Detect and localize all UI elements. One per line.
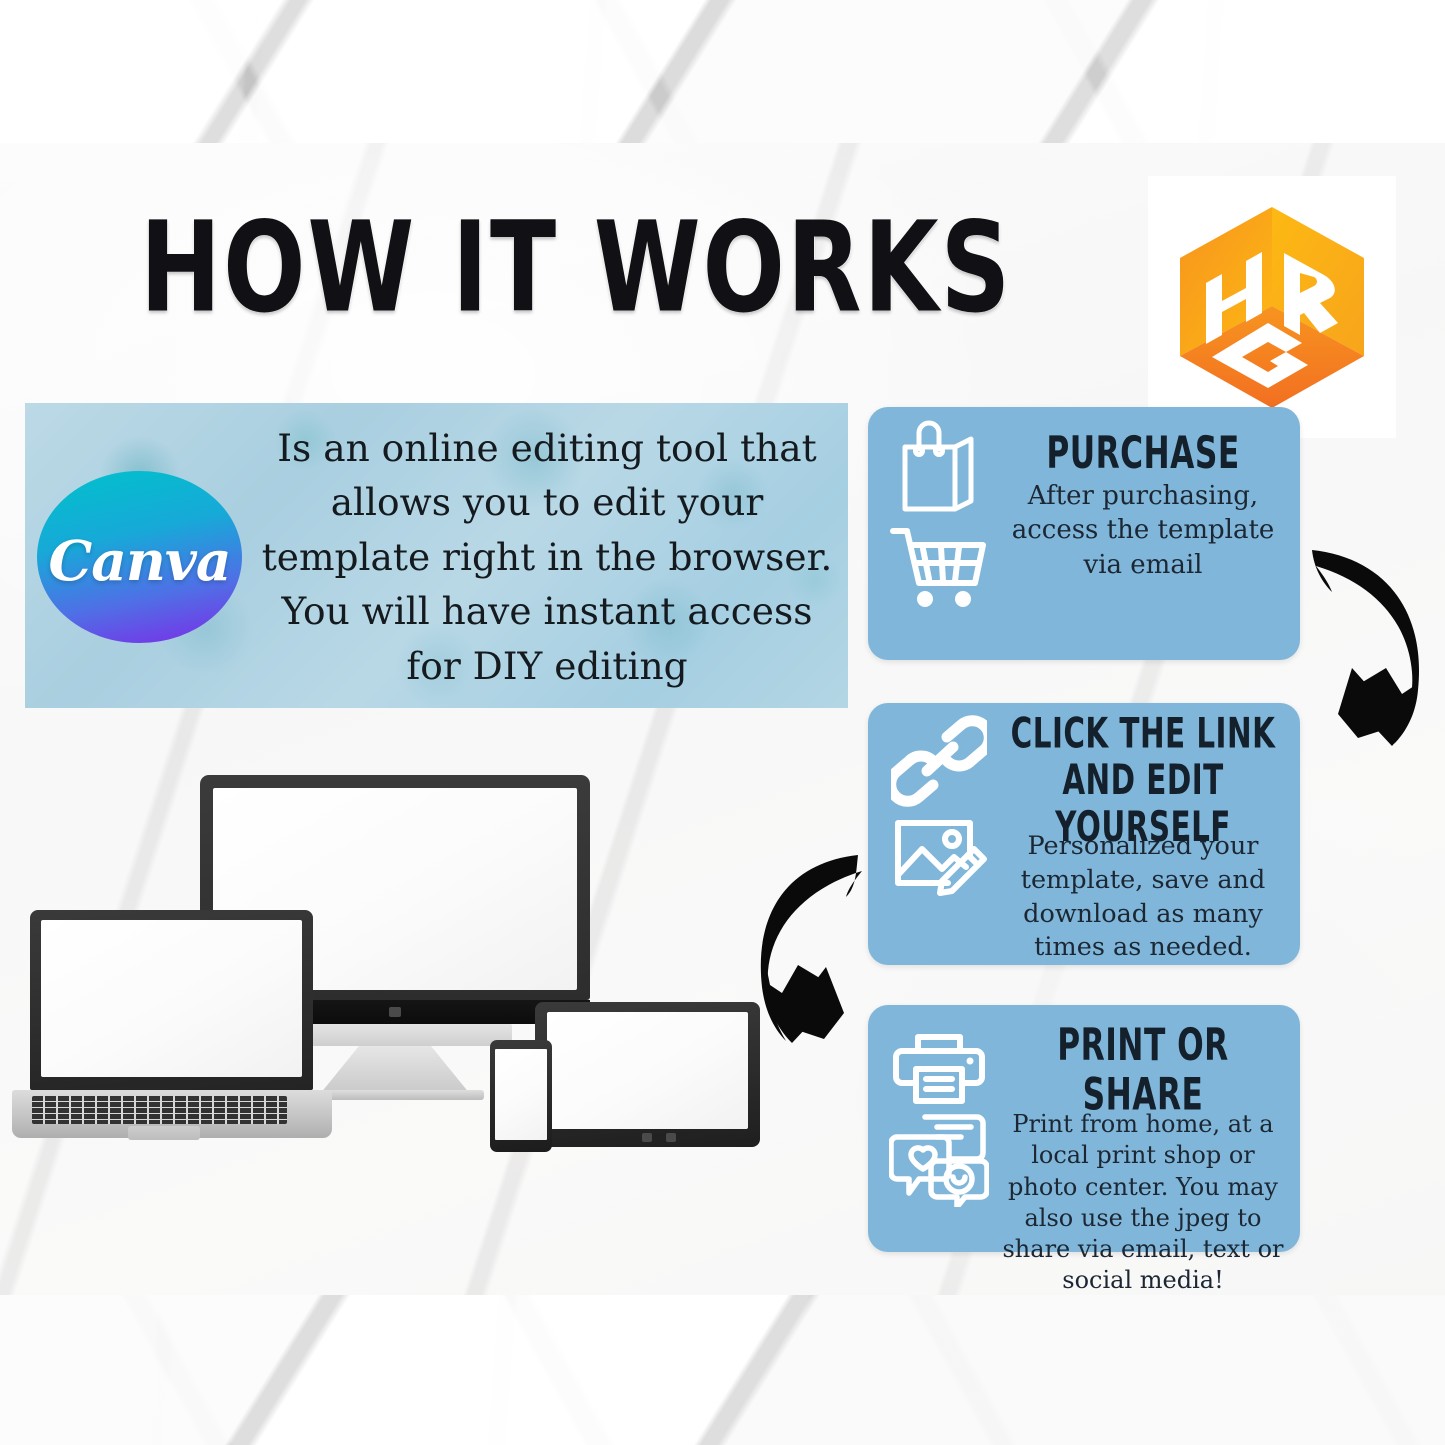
print-text: Print from home, at a local print shop o… bbox=[998, 1109, 1288, 1296]
shopping-cart-icon bbox=[889, 521, 989, 611]
monitor-foot bbox=[308, 1090, 484, 1100]
tablet-device bbox=[535, 1002, 760, 1147]
printer-icon bbox=[892, 1017, 986, 1109]
purchase-text: After purchasing, access the template vi… bbox=[998, 479, 1288, 582]
tablet-button-left bbox=[642, 1133, 652, 1142]
step-card-edit[interactable]: CLICK THE LINK AND EDIT YOURSELF Persona… bbox=[868, 703, 1300, 965]
edit-body: CLICK THE LINK AND EDIT YOURSELF Persona… bbox=[998, 711, 1288, 965]
canva-info-panel: Canva Is an online editing tool that all… bbox=[25, 403, 848, 708]
canva-wordmark: Canva bbox=[49, 528, 231, 593]
print-title: PRINT OR SHARE bbox=[1010, 1021, 1277, 1120]
phone-screen bbox=[495, 1049, 547, 1140]
print-body: PRINT OR SHARE Print from home, at a loc… bbox=[998, 1021, 1288, 1296]
edit-icon-group bbox=[880, 715, 998, 901]
canva-logo-icon: Canva bbox=[37, 471, 242, 643]
monitor-logo-mark bbox=[389, 1007, 401, 1017]
laptop-device bbox=[30, 910, 313, 1090]
page-background: HOW IT WORKS bbox=[0, 0, 1445, 1445]
hrg-cube-icon bbox=[1172, 201, 1372, 413]
laptop-trackpad bbox=[128, 1126, 200, 1140]
monitor-stand bbox=[320, 1046, 470, 1094]
shopping-bag-icon bbox=[893, 419, 985, 519]
phone-device bbox=[490, 1040, 552, 1152]
step-card-print[interactable]: PRINT OR SHARE Print from home, at a loc… bbox=[868, 1005, 1300, 1252]
tablet-screen bbox=[547, 1012, 748, 1129]
canva-description: Is an online editing tool that allows yo… bbox=[257, 413, 837, 693]
laptop-keyboard bbox=[32, 1096, 287, 1124]
arrow-edit-to-print-icon bbox=[752, 845, 882, 1045]
purchase-icon-group bbox=[880, 419, 998, 611]
arrow-purchase-to-edit-icon bbox=[1294, 538, 1444, 753]
link-icon bbox=[891, 715, 987, 807]
laptop-screen bbox=[41, 920, 302, 1077]
purchase-body: PURCHASE After purchasing, access the te… bbox=[998, 429, 1288, 582]
image-edit-icon bbox=[890, 809, 988, 901]
purchase-title: PURCHASE bbox=[1010, 429, 1277, 479]
share-bubbles-icon bbox=[889, 1111, 989, 1207]
brand-logo bbox=[1148, 176, 1396, 438]
print-icon-group bbox=[880, 1017, 998, 1207]
monitor-base bbox=[278, 1024, 512, 1046]
page-title: HOW IT WORKS bbox=[140, 205, 831, 330]
tablet-button-right bbox=[666, 1133, 676, 1142]
edit-title: CLICK THE LINK AND EDIT YOURSELF bbox=[1010, 711, 1277, 851]
device-mockup bbox=[20, 760, 790, 1180]
step-card-purchase[interactable]: PURCHASE After purchasing, access the te… bbox=[868, 407, 1300, 660]
